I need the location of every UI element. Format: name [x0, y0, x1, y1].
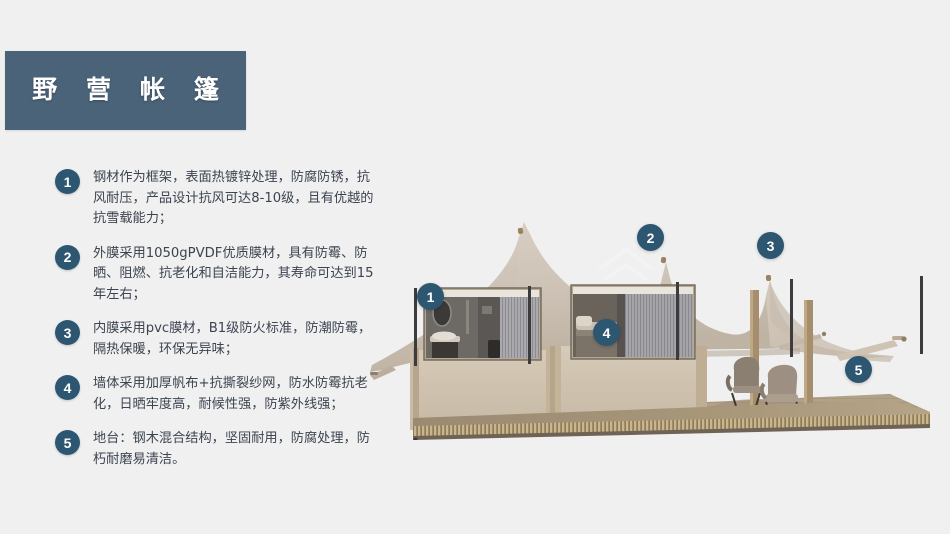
deck-leg-2 [528, 286, 531, 364]
list-item-text: 钢材作为框架，表面热镀锌处理，防腐防锈，抗风耐压，产品设计抗风可达8-10级，且… [93, 168, 375, 230]
tension-strut-right-anchor [901, 336, 906, 341]
tension-strut-mid-anchor [822, 332, 826, 336]
deck-leg-3 [676, 282, 679, 360]
callout-badge-1[interactable]: 1 [417, 283, 444, 310]
canopy-peak-tip [766, 275, 771, 281]
window-right-valance [573, 287, 693, 294]
list-item-text: 内膜采用pvc膜材，B1级防火标准，防潮防霉，隔热保暖，环保无异味； [93, 319, 375, 360]
list-item: 5 地台：钢木混合结构，坚固耐用，防腐处理，防朽耐磨易清洁。 [55, 429, 375, 470]
deck-leg-4 [790, 279, 793, 357]
list-item-text: 地台：钢木混合结构，坚固耐用，防腐处理，防朽耐磨易清洁。 [93, 429, 375, 470]
callout-badge-5[interactable]: 5 [845, 356, 872, 383]
list-item-number-badge: 4 [55, 375, 80, 400]
deck-leg-5 [920, 276, 923, 354]
page-title-banner: 野 营 帐 篷 [5, 51, 246, 130]
tension-strut-left-tip [370, 372, 378, 375]
list-item-number-badge: 5 [55, 430, 80, 455]
window-right-interior [573, 287, 693, 357]
callout-badge-3[interactable]: 3 [757, 232, 784, 259]
feature-list: 1 钢材作为框架，表面热镀锌处理，防腐防锈，抗风耐压，产品设计抗风可达8-10级… [55, 168, 375, 484]
list-item-text: 外膜采用1050gPVDF优质膜材，具有防霉、防晒、阻燃、抗老化和自洁能力，其寿… [93, 244, 375, 306]
callout-badge-2[interactable]: 2 [637, 224, 664, 251]
list-item-text: 墙体采用加厚帆布+抗撕裂纱网，防水防霉抗老化，日晒牢度高，耐候性强，防紫外线强； [93, 374, 375, 415]
tent-illustration [370, 150, 950, 440]
list-item: 2 外膜采用1050gPVDF优质膜材，具有防霉、防晒、阻燃、抗老化和自洁能力，… [55, 244, 375, 306]
tent-illustration-graphic [370, 150, 950, 440]
list-item: 3 内膜采用pvc膜材，B1级防火标准，防潮防霉，隔热保暖，环保无异味； [55, 319, 375, 360]
canopy-peak-tip [661, 257, 667, 263]
slide-page: 野 营 帐 篷 1 钢材作为框架，表面热镀锌处理，防腐防锈，抗风耐压，产品设计抗… [0, 0, 950, 534]
list-item: 4 墙体采用加厚帆布+抗撕裂纱网，防水防霉抗老化，日晒牢度高，耐候性强，防紫外线… [55, 374, 375, 415]
list-item: 1 钢材作为框架，表面热镀锌处理，防腐防锈，抗风耐压，产品设计抗风可达8-10级… [55, 168, 375, 230]
callout-badge-4[interactable]: 4 [593, 319, 620, 346]
terrace-post-right-highlight [804, 300, 807, 408]
list-item-number-badge: 1 [55, 169, 80, 194]
list-item-number-badge: 2 [55, 245, 80, 270]
corner-post-left-highlight [410, 348, 413, 430]
page-title: 野 营 帐 篷 [21, 78, 230, 103]
list-item-number-badge: 3 [55, 320, 80, 345]
